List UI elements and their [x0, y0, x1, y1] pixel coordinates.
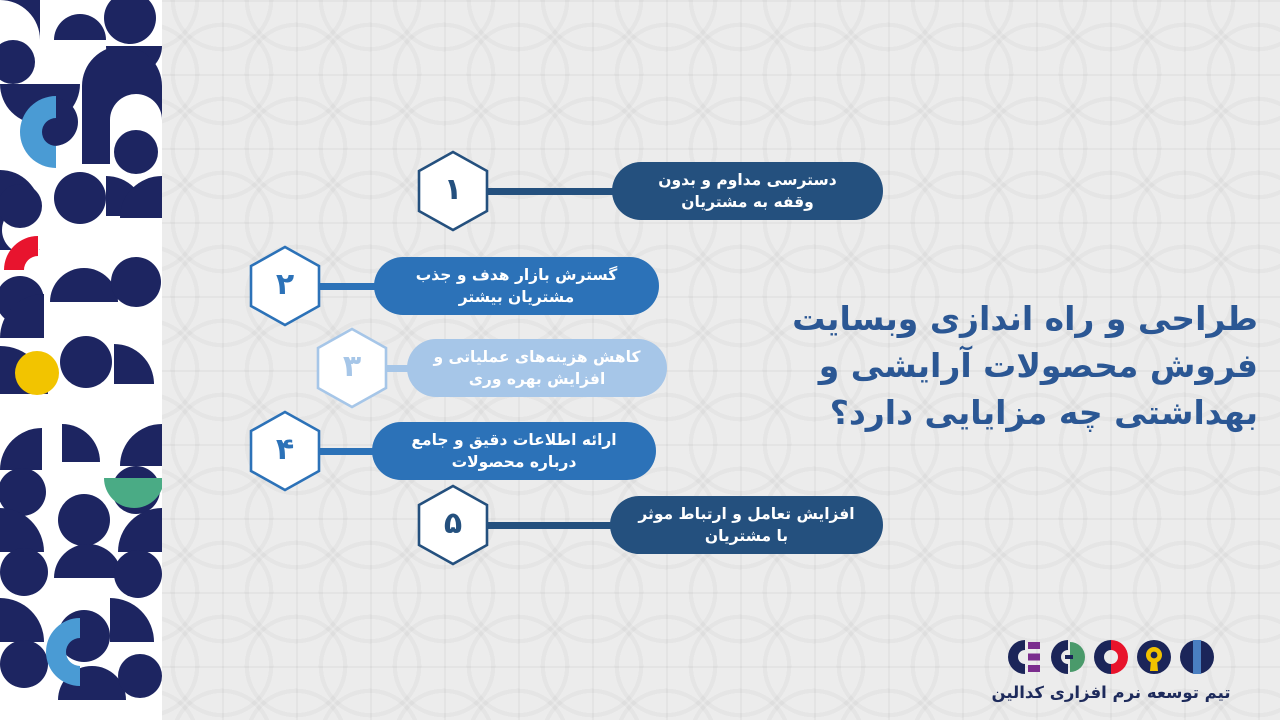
- logo-mark-purple-bars-icon: [1008, 640, 1042, 674]
- benefit-pill-1-line-1: دسترسی مداوم و بدون: [658, 169, 836, 191]
- benefit-pill-2[interactable]: گسترش بازار هدف و جذب مشتریان بیشتر: [374, 257, 659, 315]
- benefit-pill-1[interactable]: دسترسی مداوم و بدون وقفه به مشتریان: [612, 162, 883, 220]
- headline-line-1: طراحی و راه اندازی وبسایت: [778, 296, 1258, 343]
- benefit-pill-1-text: دسترسی مداوم و بدون وقفه به مشتریان: [658, 169, 836, 213]
- brand-footer: تیم توسعه نرم افزاری کدالین: [976, 640, 1246, 702]
- benefit-pill-5-line-1: افزایش تعامل و ارتباط موثر: [638, 503, 854, 525]
- benefit-pill-5[interactable]: افزایش تعامل و ارتباط موثر با مشتریان: [610, 496, 883, 554]
- headline-line-2: فروش محصولات آرایشی و: [778, 343, 1258, 390]
- headline-line-3: بهداشتی چه مزایایی دارد؟: [778, 390, 1258, 437]
- brand-logo: [976, 640, 1246, 674]
- benefit-row-3[interactable]: ۳ کاهش هزینه‌های عملیاتی و افزایش بهره و…: [315, 332, 667, 404]
- step-hexagon-4[interactable]: ۴: [248, 410, 322, 492]
- logo-mark-red-arc-icon: [1094, 640, 1128, 674]
- brand-caption: تیم توسعه نرم افزاری کدالین: [976, 683, 1246, 702]
- step-number-2: ۲: [276, 270, 294, 302]
- step-number-5: ۵: [444, 509, 462, 541]
- benefit-pill-4-line-1: ارائه اطلاعات دقیق و جامع: [411, 429, 616, 451]
- step-number-3: ۳: [343, 352, 361, 384]
- step-number-1: ۱: [444, 175, 462, 207]
- benefit-pill-5-line-2: با مشتریان: [638, 525, 854, 547]
- benefit-pill-4[interactable]: ارائه اطلاعات دقیق و جامع درباره محصولات: [372, 422, 656, 480]
- benefit-pill-3-text: کاهش هزینه‌های عملیاتی و افزایش بهره وری: [434, 346, 641, 390]
- benefit-pill-2-line-1: گسترش بازار هدف و جذب: [416, 264, 618, 286]
- benefit-pill-1-line-2: وقفه به مشتریان: [658, 191, 836, 213]
- connector-line-2: [318, 283, 378, 290]
- logo-mark-blue-bar-icon: [1180, 640, 1214, 674]
- benefit-row-1[interactable]: ۱ دسترسی مداوم و بدون وقفه به مشتریان: [416, 155, 883, 227]
- benefit-pill-4-line-2: درباره محصولات: [411, 451, 616, 473]
- connector-line-4: [318, 448, 376, 455]
- benefit-pill-2-line-2: مشتریان بیشتر: [416, 286, 618, 308]
- benefit-pill-2-text: گسترش بازار هدف و جذب مشتریان بیشتر: [416, 264, 618, 308]
- step-hexagon-2[interactable]: ۲: [248, 245, 322, 327]
- step-hexagon-3[interactable]: ۳: [315, 327, 389, 409]
- step-number-4: ۴: [276, 435, 294, 467]
- benefit-row-4[interactable]: ۴ ارائه اطلاعات دقیق و جامع درباره محصول…: [248, 415, 753, 487]
- logo-mark-yellow-key-icon: [1137, 640, 1171, 674]
- benefit-pill-5-text: افزایش تعامل و ارتباط موثر با مشتریان: [638, 503, 854, 547]
- decorative-pattern-panel: [0, 0, 162, 720]
- benefit-row-2[interactable]: ۲ گسترش بازار هدف و جذب مشتریان بیشتر: [248, 250, 753, 322]
- logo-mark-green-wedge-icon: [1051, 640, 1085, 674]
- step-hexagon-5[interactable]: ۵: [416, 484, 490, 566]
- page-title: طراحی و راه اندازی وبسایت فروش محصولات آ…: [778, 296, 1258, 437]
- connector-line-1: [486, 188, 616, 195]
- slide-root: طراحی و راه اندازی وبسایت فروش محصولات آ…: [0, 0, 1280, 720]
- step-hexagon-1[interactable]: ۱: [416, 150, 490, 232]
- benefit-pill-3[interactable]: کاهش هزینه‌های عملیاتی و افزایش بهره وری: [407, 339, 667, 397]
- slide-content: طراحی و راه اندازی وبسایت فروش محصولات آ…: [0, 0, 1280, 720]
- benefit-pill-4-text: ارائه اطلاعات دقیق و جامع درباره محصولات: [411, 429, 616, 473]
- benefit-pill-3-line-2: افزایش بهره وری: [434, 368, 641, 390]
- benefit-pill-3-line-1: کاهش هزینه‌های عملیاتی و: [434, 346, 641, 368]
- benefit-row-5[interactable]: ۵ افزایش تعامل و ارتباط موثر با مشتریان: [416, 489, 883, 561]
- connector-line-5: [486, 522, 614, 529]
